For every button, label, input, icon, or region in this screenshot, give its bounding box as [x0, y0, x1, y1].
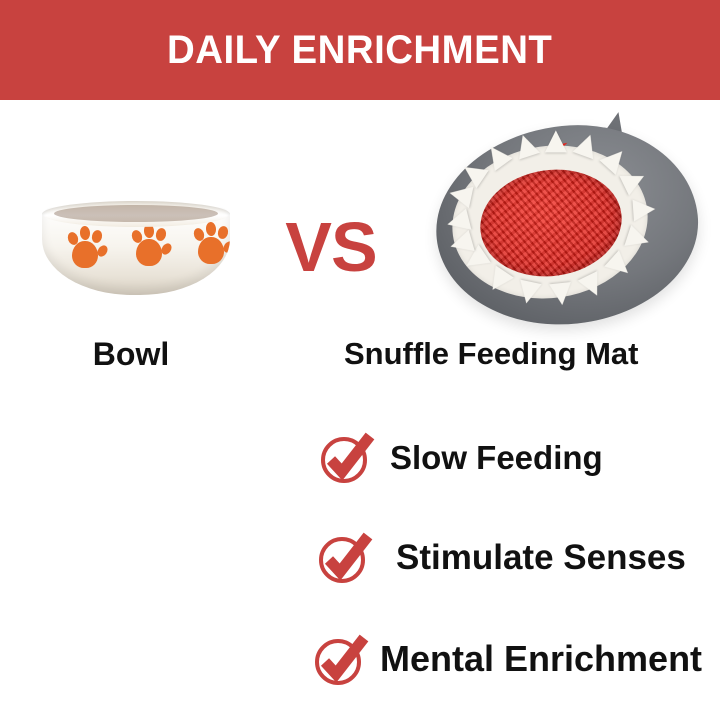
- check-circle-icon: [316, 528, 374, 586]
- header-banner: DAILY ENRICHMENT: [0, 0, 720, 100]
- bowl-label: Bowl: [0, 338, 262, 370]
- benefit-row: Slow Feeding: [318, 428, 603, 486]
- paw-print-icon: [128, 223, 172, 267]
- check-circle-icon: [312, 630, 370, 688]
- benefit-row: Stimulate Senses: [316, 528, 686, 586]
- benefit-label: Slow Feeding: [390, 441, 603, 474]
- benefit-label: Mental Enrichment: [380, 641, 702, 677]
- snuffle-mat-image: [428, 108, 706, 330]
- benefit-row: Mental Enrichment: [312, 630, 702, 688]
- snuffle-mat-label: Snuffle Feeding Mat: [344, 338, 720, 369]
- bowl-interior-shadow: [54, 205, 218, 222]
- bowl-image: [36, 145, 236, 300]
- comparison-stage: VS: [0, 100, 720, 340]
- benefit-label: Stimulate Senses: [396, 540, 686, 575]
- vs-separator: VS: [268, 212, 394, 282]
- page-title: DAILY ENRICHMENT: [167, 30, 552, 70]
- paw-print-icon: [64, 225, 108, 269]
- check-circle-icon: [318, 428, 376, 486]
- infographic-page: DAILY ENRICHMENT: [0, 0, 720, 720]
- paw-print-icon: [190, 221, 230, 265]
